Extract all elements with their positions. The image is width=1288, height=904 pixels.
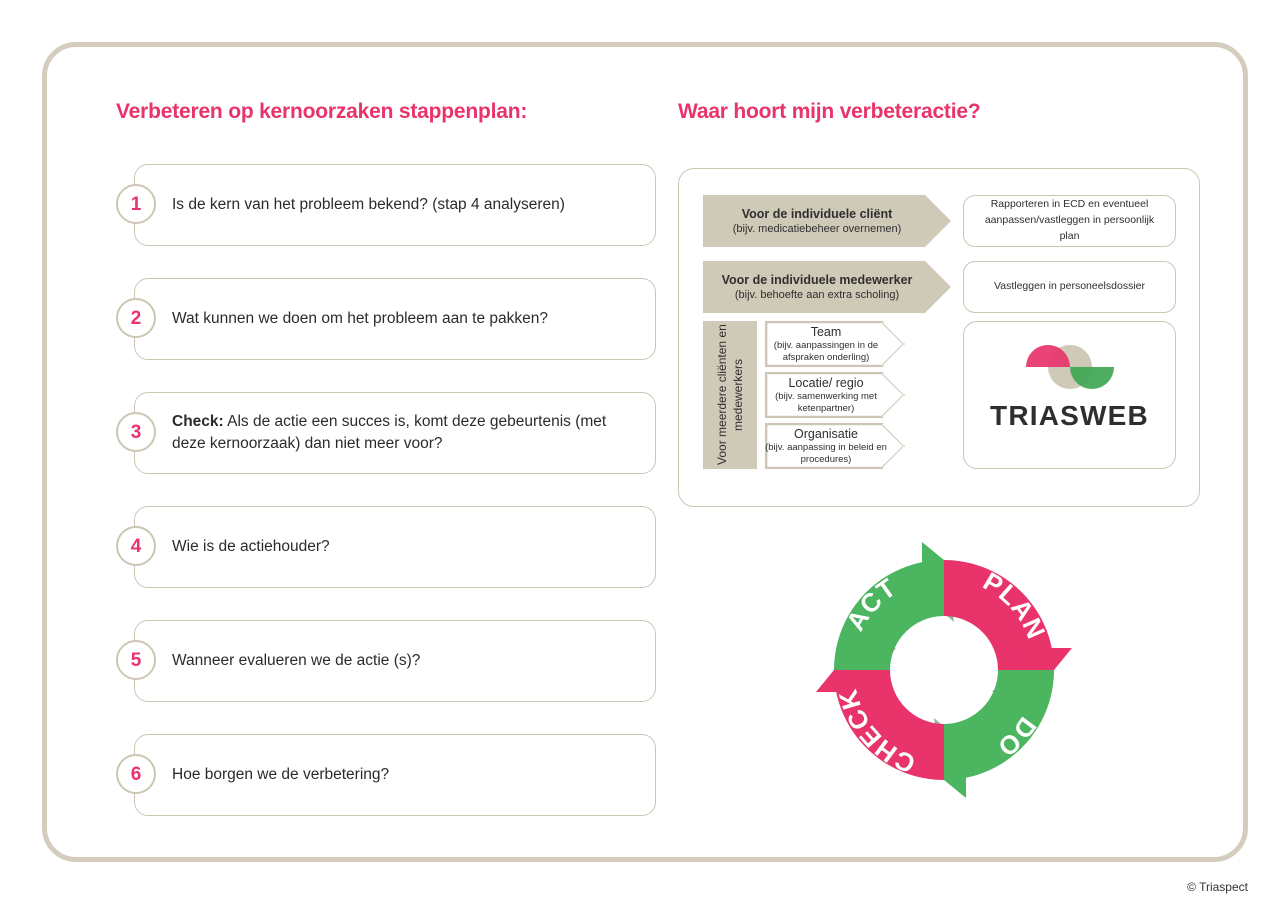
action-box-employee[interactable]: Vastleggen in personeelsdossier: [963, 261, 1176, 313]
scope-chevron-locatie-regio[interactable]: Locatie/ regio (bijv. samenwerking met k…: [765, 372, 905, 418]
action-box-client[interactable]: Rapporteren in ECD en eventueel aanpasse…: [963, 195, 1176, 247]
step-text: Hoe borgen we de verbetering?: [172, 766, 389, 783]
scope-chevron-title: Voor de individuele cliënt: [742, 206, 893, 222]
triasweb-logo-card[interactable]: TRIASWEB: [963, 321, 1176, 469]
scope-chevron-title: Organisatie: [794, 426, 858, 442]
scope-chevron-example: (bijv. aanpassing in beleid en procedure…: [765, 442, 887, 466]
scope-chevron-title: Locatie/ regio: [788, 375, 863, 391]
step-text: Als de actie een succes is, komt deze ge…: [172, 413, 606, 452]
step-number-badge: 6: [116, 754, 156, 794]
step-number-badge: 3: [116, 412, 156, 452]
triasweb-wordmark: TRIASWEB: [964, 400, 1175, 432]
scope-block-multiple[interactable]: Voor meerdere cliënten en medewerkers: [703, 321, 757, 469]
scope-chevron-employee[interactable]: Voor de individuele medewerker (bijv. be…: [703, 261, 951, 313]
step-item[interactable]: 5 Wanneer evalueren we de actie (s)?: [116, 620, 656, 702]
scope-chevron-example: (bijv. samenwerking met ketenpartner): [765, 391, 887, 415]
step-item[interactable]: 4 Wie is de actiehouder?: [116, 506, 656, 588]
scope-chevron-title: Voor de individuele medewerker: [722, 272, 913, 288]
scope-chevron-example: (bijv. aanpassingen in de afspraken onde…: [765, 340, 887, 364]
scope-chevron-client[interactable]: Voor de individuele cliënt (bijv. medica…: [703, 195, 951, 247]
step-label: Check: Als de actie een succes is, komt …: [172, 392, 642, 474]
steps-section-title: Verbeteren op kernoorzaken stappenplan:: [116, 100, 656, 124]
step-text: Wanneer evalueren we de actie (s)?: [172, 652, 420, 669]
scope-chevron-example: (bijv. behoefte aan extra scholing): [735, 288, 899, 302]
scope-chevron-team[interactable]: Team (bijv. aanpassingen in de afspraken…: [765, 321, 905, 367]
verbeteractie-section-title: Waar hoort mijn verbeteractie?: [678, 100, 1218, 124]
step-text: Wie is de actiehouder?: [172, 538, 330, 555]
triasweb-logo-icon: [1022, 344, 1118, 390]
steps-section: Verbeteren op kernoorzaken stappenplan: …: [116, 100, 656, 848]
action-box-text: Vastleggen in personeelsdossier: [994, 279, 1145, 295]
step-item[interactable]: 1 Is de kern van het probleem bekend? (s…: [116, 164, 656, 246]
step-label: Hoe borgen we de verbetering?: [172, 734, 642, 816]
step-number-badge: 5: [116, 640, 156, 680]
step-item[interactable]: 3 Check: Als de actie een succes is, kom…: [116, 392, 656, 474]
step-number-badge: 4: [116, 526, 156, 566]
pdca-wheel: PLAN DO CHECK ACT: [810, 536, 1078, 804]
scope-chevron-example: (bijv. medicatiebeheer overnemen): [733, 222, 902, 236]
scope-chevron-organisatie[interactable]: Organisatie (bijv. aanpassing in beleid …: [765, 423, 905, 469]
step-text: Is de kern van het probleem bekend? (sta…: [172, 196, 565, 213]
scope-diagram-panel: Voor de individuele cliënt (bijv. medica…: [678, 168, 1200, 507]
verbeteractie-section: Waar hoort mijn verbeteractie? Voor de i…: [678, 100, 1218, 164]
footer-copyright: © Triaspect: [1187, 880, 1248, 894]
step-number-badge: 1: [116, 184, 156, 224]
step-label: Wat kunnen we doen om het probleem aan t…: [172, 278, 642, 360]
scope-chevron-title: Team: [811, 324, 842, 340]
step-text: Wat kunnen we doen om het probleem aan t…: [172, 310, 548, 327]
step-label: Is de kern van het probleem bekend? (sta…: [172, 164, 642, 246]
step-item[interactable]: 6 Hoe borgen we de verbetering?: [116, 734, 656, 816]
step-number-badge: 2: [116, 298, 156, 338]
step-label: Wanneer evalueren we de actie (s)?: [172, 620, 642, 702]
step-item[interactable]: 2 Wat kunnen we doen om het probleem aan…: [116, 278, 656, 360]
step-text-bold-prefix: Check:: [172, 413, 224, 430]
step-label: Wie is de actiehouder?: [172, 506, 642, 588]
scope-block-label: Voor meerdere cliënten en medewerkers: [714, 321, 746, 469]
action-box-text: Rapporteren in ECD en eventueel aanpasse…: [974, 197, 1165, 244]
